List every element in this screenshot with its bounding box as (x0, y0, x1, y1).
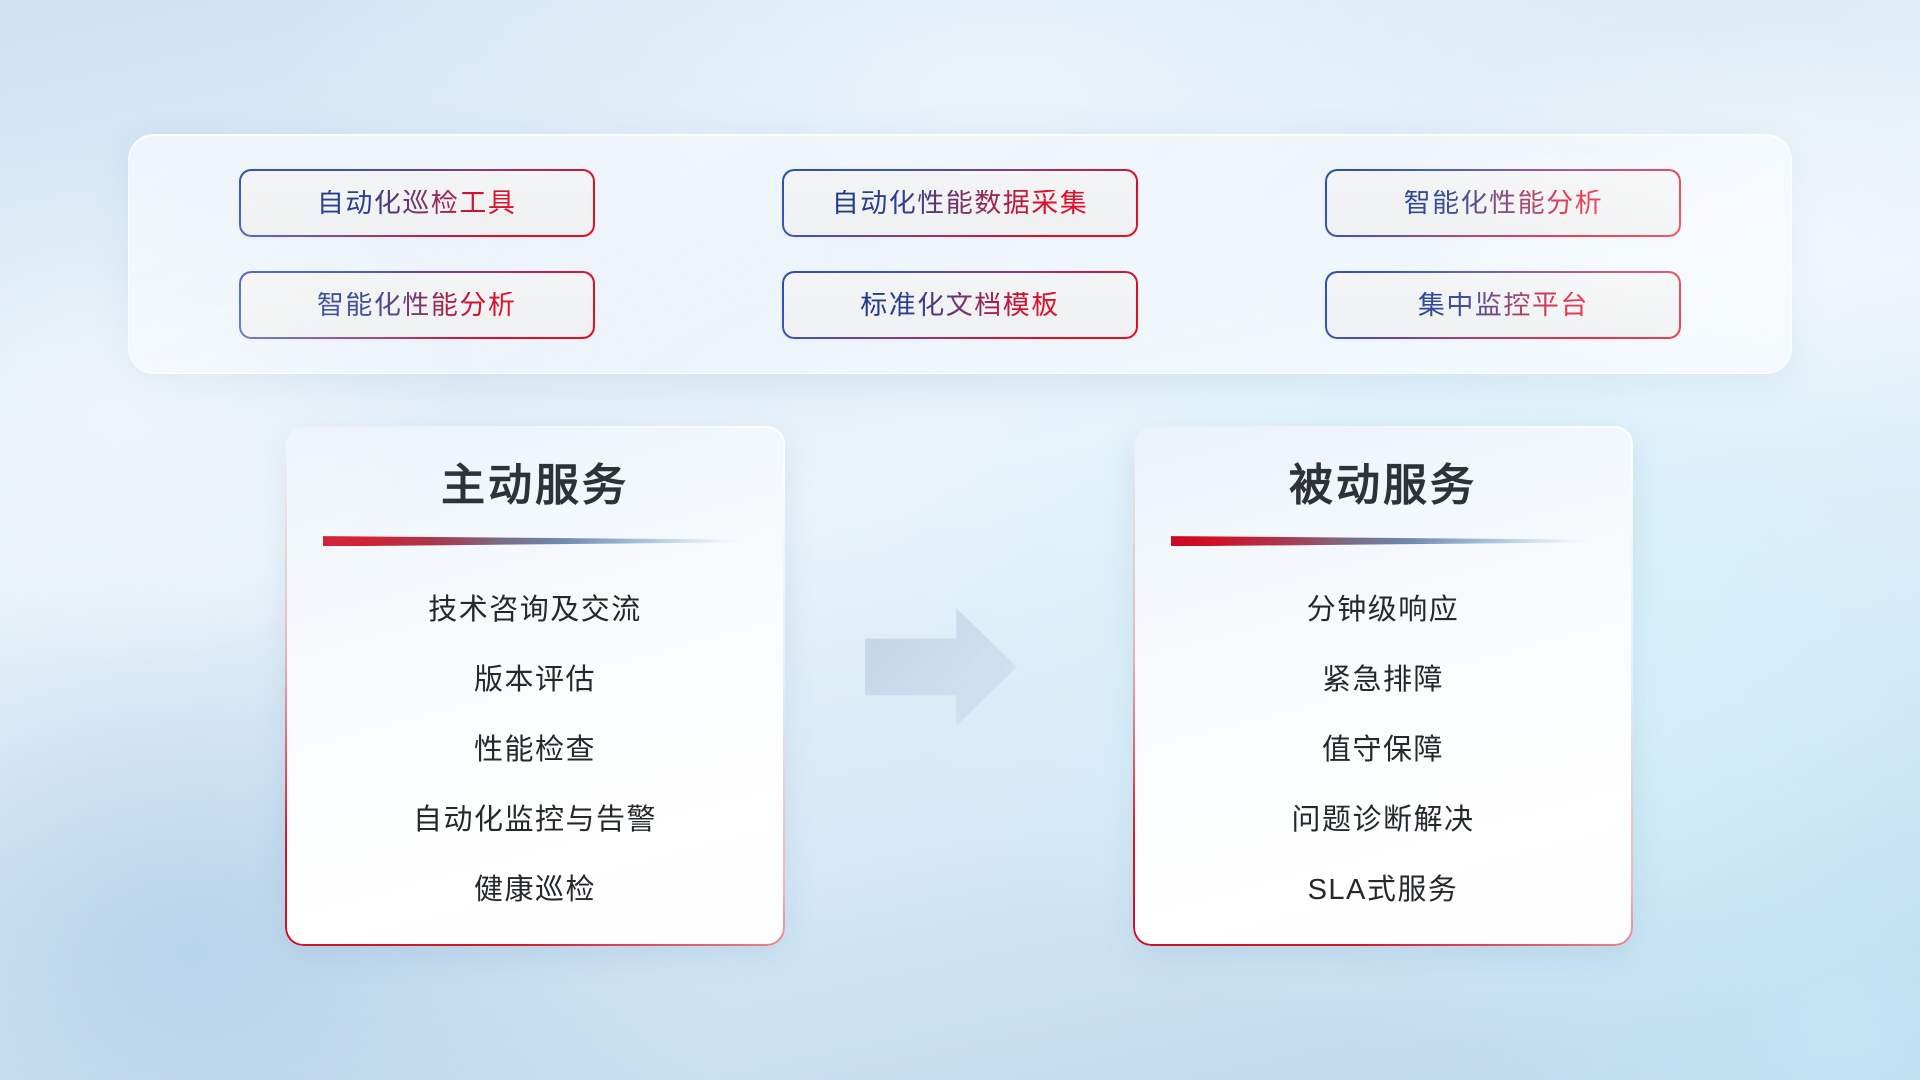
capabilities-panel: 自动化巡检工具 自动化性能数据采集 智能化性能分析 智能化性能分析 标准化文档模… (128, 134, 1792, 374)
list-item[interactable]: 紧急排障 (1322, 642, 1444, 712)
service-list: 技术咨询及交流 版本评估 性能检查 自动化监控与告警 健康巡检 (285, 572, 785, 922)
capability-pill-automated-inspection-tool[interactable]: 自动化巡检工具 (239, 169, 595, 237)
capability-pill-intelligent-perf-analysis-1[interactable]: 智能化性能分析 (1325, 169, 1681, 237)
title-divider (1171, 534, 1595, 546)
service-list: 分钟级响应 紧急排障 值守保障 问题诊断解决 SLA式服务 (1133, 572, 1633, 922)
capability-pill-standardized-doc-template[interactable]: 标准化文档模板 (782, 271, 1138, 339)
list-item[interactable]: SLA式服务 (1308, 852, 1459, 922)
arrow-right-icon (865, 608, 1017, 726)
title-divider (323, 534, 747, 546)
capability-pill-label: 集中监控平台 (1418, 292, 1589, 319)
list-item[interactable]: 自动化监控与告警 (413, 782, 657, 852)
list-item[interactable]: 性能检查 (474, 712, 596, 782)
capability-pill-label: 自动化性能数据采集 (832, 190, 1089, 217)
list-item[interactable]: 值守保障 (1322, 712, 1444, 782)
list-item[interactable]: 健康巡检 (474, 852, 596, 922)
capability-pill-label: 智能化性能分析 (1404, 190, 1604, 217)
capability-pill-label: 自动化巡检工具 (317, 190, 517, 217)
slide-canvas: 自动化巡检工具 自动化性能数据采集 智能化性能分析 智能化性能分析 标准化文档模… (0, 0, 1920, 1080)
service-card-reactive[interactable]: 被动服务 分钟级响应 紧急排障 值守保障 问题诊断解决 SLA式服务 (1133, 426, 1633, 946)
card-title: 主动服务 (285, 462, 785, 510)
capability-pill-label: 智能化性能分析 (317, 292, 517, 319)
list-item[interactable]: 分钟级响应 (1307, 572, 1460, 642)
service-card-proactive[interactable]: 主动服务 技术咨询及交流 版本评估 性能检查 自动化监控与告警 健康巡检 (285, 426, 785, 946)
card-title: 被动服务 (1133, 462, 1633, 510)
capability-pill-intelligent-perf-analysis-2[interactable]: 智能化性能分析 (239, 271, 595, 339)
capability-pill-label: 标准化文档模板 (860, 292, 1060, 319)
capability-pill-centralized-monitoring-platform[interactable]: 集中监控平台 (1325, 271, 1681, 339)
list-item[interactable]: 技术咨询及交流 (428, 572, 642, 642)
list-item[interactable]: 问题诊断解决 (1291, 782, 1474, 852)
list-item[interactable]: 版本评估 (474, 642, 596, 712)
capability-pill-automated-perf-data-collection[interactable]: 自动化性能数据采集 (782, 169, 1138, 237)
